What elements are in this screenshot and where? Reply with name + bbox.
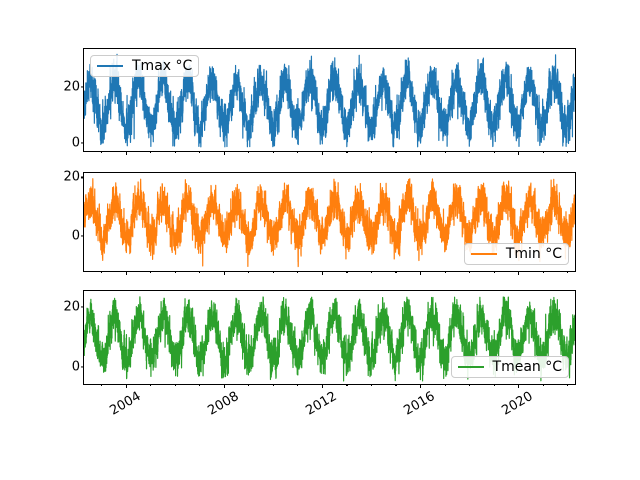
xtick-mark-minor	[101, 384, 102, 386]
xtick-mark-minor	[297, 384, 298, 386]
ytick-mark	[81, 366, 85, 367]
legend-label-tmean: Tmean °C	[493, 360, 562, 374]
xtick-mark-minor	[543, 271, 544, 273]
ytick-mark	[81, 86, 85, 87]
xtick-mark-minor	[567, 151, 568, 153]
xtick-mark-major	[420, 384, 421, 388]
subplot-tmin: Tmin °C 020	[83, 172, 576, 272]
xtick-mark-minor	[150, 384, 151, 386]
xtick-mark-minor	[297, 271, 298, 273]
xtick-mark-minor	[395, 384, 396, 386]
ytick-mark	[81, 177, 85, 178]
xtick-mark-minor	[494, 271, 495, 273]
ytick-label: 0	[72, 229, 80, 244]
xtick-label: 2012	[303, 389, 339, 419]
ytick-label: 20	[63, 79, 80, 94]
xtick-mark-minor	[469, 151, 470, 153]
xtick-mark-minor	[395, 151, 396, 153]
ytick-mark	[81, 307, 85, 308]
legend-line-swatch-tmin	[471, 253, 497, 255]
xtick-mark-major	[518, 151, 519, 155]
xtick-mark-minor	[346, 151, 347, 153]
xtick-mark-minor	[248, 384, 249, 386]
xtick-mark-minor	[543, 151, 544, 153]
xtick-mark-major	[224, 271, 225, 275]
xtick-mark-minor	[445, 271, 446, 273]
xtick-mark-major	[322, 271, 323, 275]
xtick-mark-major	[224, 384, 225, 388]
ytick-label: 20	[63, 170, 80, 185]
xtick-mark-major	[420, 271, 421, 275]
ytick-label: 0	[72, 136, 80, 151]
figure-canvas: Tmax °C 020 Tmin °C 020 Tmean °C 0202004…	[0, 0, 640, 480]
xtick-mark-minor	[175, 151, 176, 153]
xtick-mark-minor	[273, 384, 274, 386]
xtick-mark-minor	[445, 151, 446, 153]
xtick-mark-minor	[346, 384, 347, 386]
ytick-mark	[81, 236, 85, 237]
xtick-mark-minor	[371, 271, 372, 273]
xtick-label: 2016	[401, 389, 437, 419]
xtick-mark-minor	[101, 271, 102, 273]
xtick-mark-minor	[469, 384, 470, 386]
xtick-mark-minor	[175, 384, 176, 386]
xtick-mark-major	[518, 384, 519, 388]
xtick-mark-minor	[494, 151, 495, 153]
xtick-mark-minor	[543, 384, 544, 386]
xtick-mark-minor	[150, 151, 151, 153]
xtick-mark-minor	[273, 271, 274, 273]
xtick-mark-major	[322, 384, 323, 388]
xtick-label: 2008	[205, 389, 241, 419]
subplot-tmean: Tmean °C 02020042008201220162020	[83, 290, 576, 385]
xtick-mark-minor	[175, 271, 176, 273]
xtick-mark-minor	[297, 151, 298, 153]
xtick-mark-minor	[150, 271, 151, 273]
xtick-mark-minor	[395, 271, 396, 273]
xtick-mark-major	[518, 271, 519, 275]
xtick-mark-minor	[199, 151, 200, 153]
legend-line-swatch-tmax	[97, 65, 123, 67]
xtick-mark-minor	[248, 151, 249, 153]
legend-label-tmax: Tmax °C	[132, 59, 192, 73]
xtick-mark-major	[126, 384, 127, 388]
xtick-mark-minor	[445, 384, 446, 386]
xtick-mark-minor	[248, 271, 249, 273]
ytick-label: 0	[72, 359, 80, 374]
xtick-mark-major	[420, 151, 421, 155]
xtick-mark-minor	[469, 271, 470, 273]
legend-tmean[interactable]: Tmean °C	[451, 356, 569, 378]
xtick-label: 2004	[107, 389, 143, 419]
xtick-mark-minor	[199, 271, 200, 273]
xtick-mark-minor	[273, 151, 274, 153]
legend-tmax[interactable]: Tmax °C	[90, 55, 199, 77]
xtick-mark-minor	[101, 151, 102, 153]
legend-line-swatch-tmean	[458, 366, 484, 368]
xtick-mark-minor	[371, 151, 372, 153]
legend-label-tmin: Tmin °C	[506, 247, 562, 261]
xtick-mark-minor	[494, 384, 495, 386]
xtick-mark-major	[126, 151, 127, 155]
xtick-mark-minor	[567, 384, 568, 386]
xtick-mark-major	[322, 151, 323, 155]
xtick-label: 2020	[499, 389, 535, 419]
subplot-tmax: Tmax °C 020	[83, 48, 576, 152]
ytick-label: 20	[63, 300, 80, 315]
ytick-mark	[81, 143, 85, 144]
xtick-mark-minor	[567, 271, 568, 273]
xtick-mark-minor	[346, 271, 347, 273]
legend-tmin[interactable]: Tmin °C	[464, 243, 569, 265]
xtick-mark-major	[126, 271, 127, 275]
xtick-mark-minor	[199, 384, 200, 386]
xtick-mark-major	[224, 151, 225, 155]
xtick-mark-minor	[371, 384, 372, 386]
